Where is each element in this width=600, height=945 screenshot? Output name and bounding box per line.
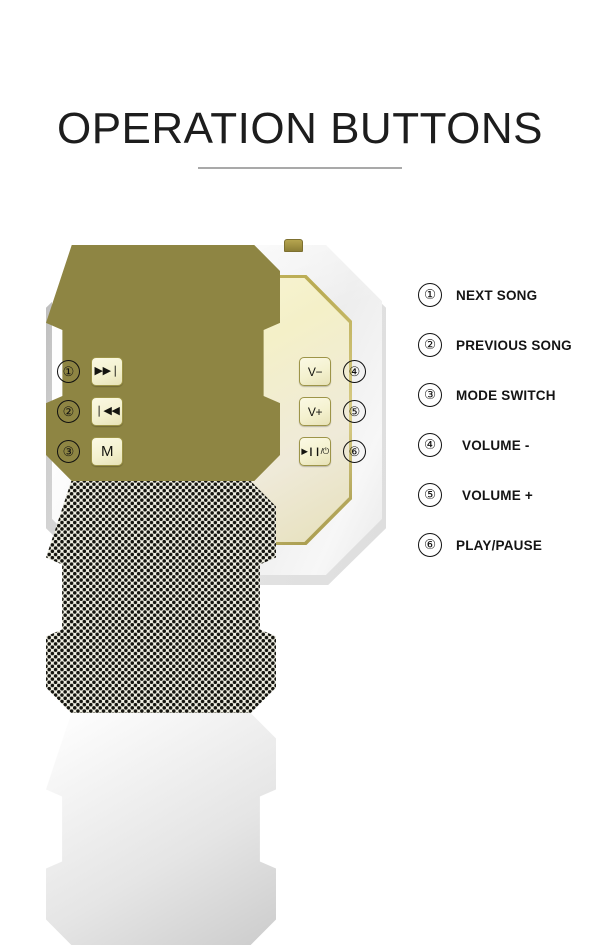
callout-marker-6: ⑥ xyxy=(343,440,366,463)
legend-item-previous-song: ② PREVIOUS SONG xyxy=(418,320,598,370)
play-pause-power-button[interactable]: ▶❙❙/⏻ xyxy=(299,437,331,466)
speaker-grille-shading xyxy=(46,713,276,945)
legend-bullet-1: ① xyxy=(418,283,442,307)
speaker-grille-mesh xyxy=(46,481,276,713)
legend-label-play-pause: PLAY/PAUSE xyxy=(456,538,542,553)
bluetooth-speaker-illustration: ▶▶❘ ❘◀◀ M V− V+ ▶❙❙/⏻ ① ② ③ ④ ⑤ ⑥ xyxy=(46,245,386,585)
mode-switch-button[interactable]: M xyxy=(91,437,123,466)
speaker-grille-outline xyxy=(46,245,280,481)
legend-bullet-6: ⑥ xyxy=(418,533,442,557)
legend-item-mode-switch: ③ MODE SWITCH xyxy=(418,370,598,420)
legend-label-previous-song: PREVIOUS SONG xyxy=(456,338,572,353)
callout-marker-4: ④ xyxy=(343,360,366,383)
legend-label-next-song: NEXT SONG xyxy=(456,288,537,303)
page-title: OPERATION BUTTONS xyxy=(0,103,600,155)
legend-item-volume-up: ⑤ VOLUME + xyxy=(418,470,598,520)
callout-marker-5: ⑤ xyxy=(343,400,366,423)
lanyard-hook-icon xyxy=(284,239,303,252)
title-divider xyxy=(198,167,402,169)
legend-item-next-song: ① NEXT SONG xyxy=(418,270,598,320)
button-legend: ① NEXT SONG ② PREVIOUS SONG ③ MODE SWITC… xyxy=(418,270,598,570)
previous-song-button[interactable]: ❘◀◀ xyxy=(91,397,123,426)
callout-marker-3: ③ xyxy=(57,440,80,463)
callout-marker-2: ② xyxy=(57,400,80,423)
title-block: OPERATION BUTTONS xyxy=(0,103,600,169)
legend-bullet-4: ④ xyxy=(418,433,442,457)
legend-bullet-5: ⑤ xyxy=(418,483,442,507)
legend-label-volume-up: VOLUME + xyxy=(462,488,533,503)
legend-bullet-3: ③ xyxy=(418,383,442,407)
legend-bullet-2: ② xyxy=(418,333,442,357)
legend-label-volume-down: VOLUME - xyxy=(462,438,530,453)
legend-item-volume-down: ④ VOLUME - xyxy=(418,420,598,470)
next-song-button[interactable]: ▶▶❘ xyxy=(91,357,123,386)
volume-down-button[interactable]: V− xyxy=(299,357,331,386)
legend-label-mode-switch: MODE SWITCH xyxy=(456,388,556,403)
callout-marker-1: ① xyxy=(57,360,80,383)
volume-up-button[interactable]: V+ xyxy=(299,397,331,426)
legend-item-play-pause: ⑥ PLAY/PAUSE xyxy=(418,520,598,570)
